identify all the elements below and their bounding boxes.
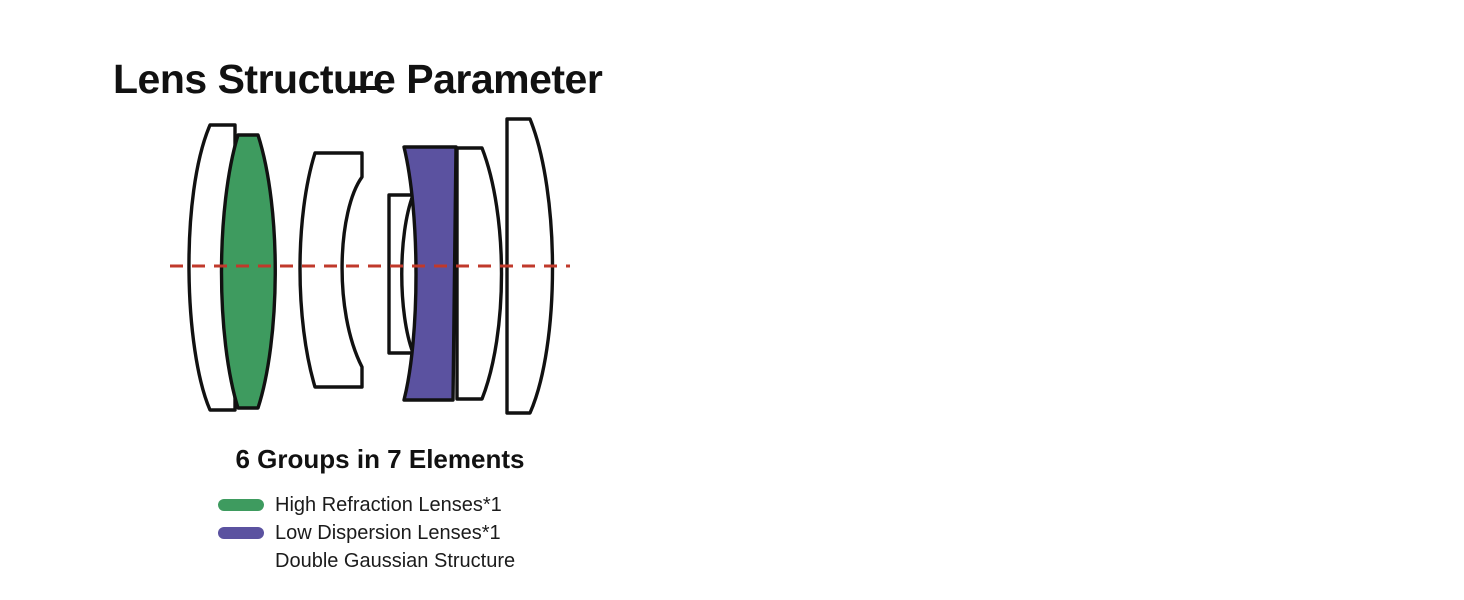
lens-material-legend: High Refraction Lenses*1 Low Dispersion … [218,492,638,574]
lens-element-5-low-dispersion [404,147,456,400]
lens-structure-panel: Lens Structure Parameter [0,0,760,600]
green-pill-swatch [218,499,264,511]
lens-title-underline [348,86,382,90]
mtf-panel: MTF 0.10.20.30.40.50.60.70.80.91 0510152… [760,0,1464,600]
lens-group-element-caption: 6 Groups in 7 Elements [0,444,760,475]
purple-pill-swatch [218,527,264,539]
legend-item-low-dispersion: Low Dispersion Lenses*1 [218,520,638,546]
legend-label-low-dispersion: Low Dispersion Lenses*1 [275,520,501,546]
lens-element-2-high-refraction [222,135,276,408]
lens-cross-section-diagram [170,105,570,425]
legend-label-high-refraction: High Refraction Lenses*1 [275,492,502,518]
lens-element-6 [457,148,502,399]
legend-note-structure: Double Gaussian Structure [275,548,638,574]
legend-item-high-refraction: High Refraction Lenses*1 [218,492,638,518]
page-root: Lens Structure Parameter [0,0,1464,600]
lens-element-3 [300,153,362,387]
lens-panel-title: Lens Structure Parameter [113,56,602,103]
lens-element-4 [389,195,413,353]
